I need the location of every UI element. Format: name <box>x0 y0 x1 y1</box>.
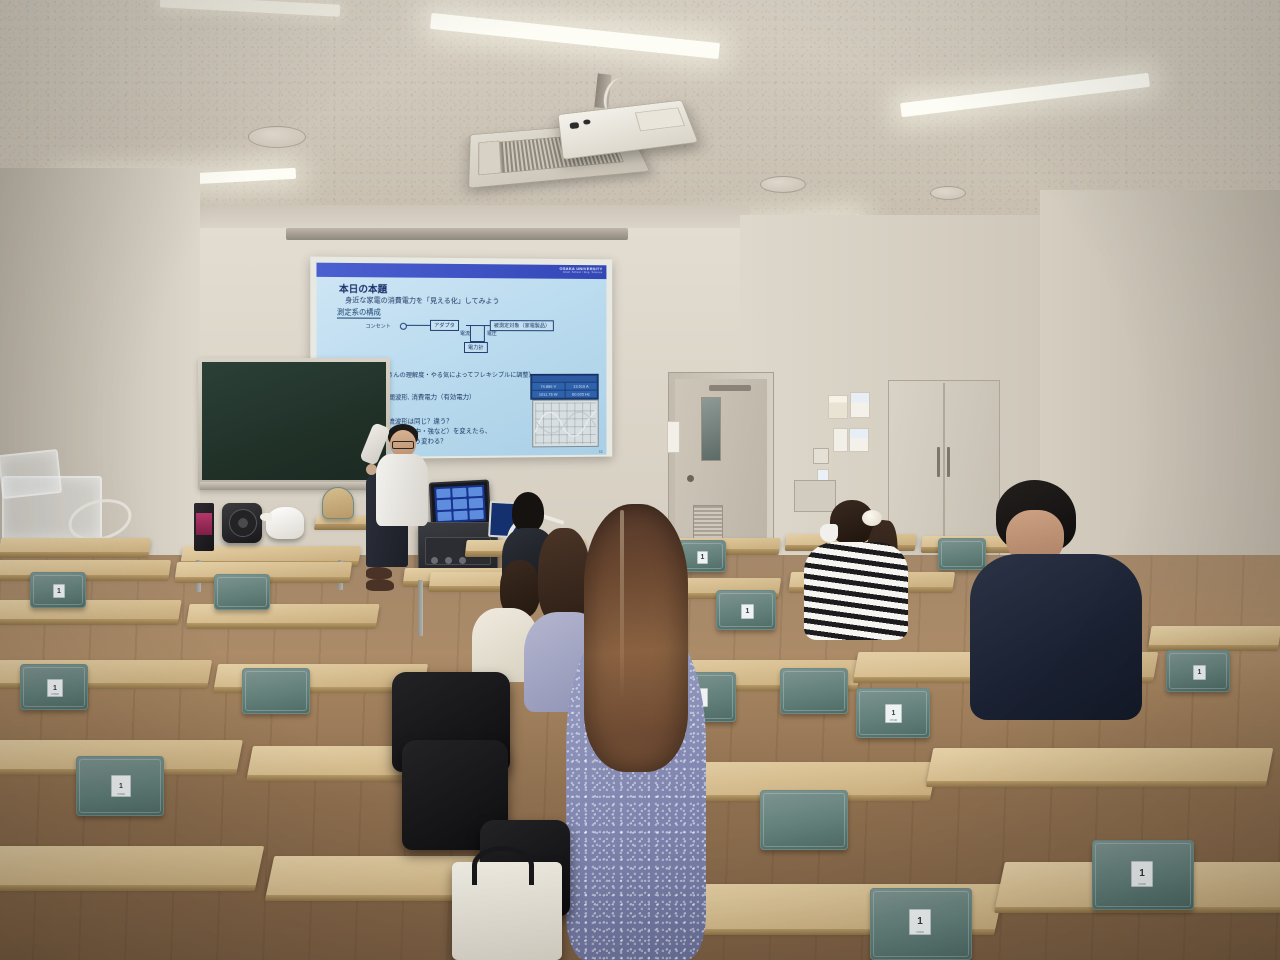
desk-row <box>1148 626 1280 646</box>
door-handle-icon[interactable] <box>687 475 694 482</box>
student-torso <box>804 542 908 640</box>
wall-poster-evacuation <box>828 395 848 419</box>
desk-row <box>0 600 182 620</box>
waveform-screenshot <box>532 399 598 447</box>
chair[interactable] <box>760 790 848 850</box>
slide-lead: 身近な家電の消費電力を「見える化」してみよう <box>345 295 499 306</box>
hair-scrunchie <box>862 510 882 526</box>
slide-page-number: 13 <box>599 450 603 454</box>
seat-number: 1 <box>53 584 65 598</box>
student <box>556 504 716 960</box>
screen-housing <box>286 228 628 240</box>
appliance-electric-fan <box>222 503 262 543</box>
seat-number: 1CHAIR <box>885 704 902 723</box>
meter-cell: 1011.76 W <box>532 391 564 398</box>
student <box>796 500 926 640</box>
diagram-meter: 電力計 <box>464 342 487 353</box>
desk-row <box>0 846 264 886</box>
diagram-current-label: 電流 <box>460 330 470 337</box>
student-hair <box>584 504 688 772</box>
seat-number: 1CHAIR <box>1131 861 1153 887</box>
ceiling-speaker-icon <box>930 186 966 200</box>
wall-poster-timetable <box>833 428 848 452</box>
light-switch-panel[interactable] <box>813 448 829 464</box>
meter-cell: 74.886 V <box>532 383 564 390</box>
chair[interactable]: 1CHAIR <box>856 688 930 738</box>
glasses-icon <box>392 441 414 449</box>
classroom-photo: OSAKA UNIVERSITY Grad. School / Eng. Sci… <box>0 0 1280 960</box>
chair[interactable]: 1CHAIR <box>870 888 972 960</box>
meter-cell: 13.516 A <box>565 383 597 390</box>
seat-number: 1 <box>741 604 754 619</box>
meter-cell: 60.025 Hz <box>565 391 597 398</box>
chair[interactable]: 1 <box>1166 650 1230 692</box>
student-hair-highlight <box>620 510 624 700</box>
ceiling-speaker-icon <box>760 176 806 193</box>
seat-number: 1 <box>1193 665 1206 680</box>
seat-number: 1CHAIR <box>111 775 131 797</box>
face-mask-icon <box>820 524 838 542</box>
blackboard <box>198 358 390 490</box>
desk-row <box>927 748 1274 782</box>
seat-number: 1CHAIR <box>47 679 63 697</box>
wall-poster-info <box>849 428 869 452</box>
wall-poster-notice <box>850 392 870 418</box>
chair[interactable]: 1 <box>30 572 86 608</box>
diagram-target: 被測定対象（家電製品） <box>490 320 554 331</box>
door-closer <box>709 385 751 391</box>
appliance-kettle <box>266 507 304 539</box>
diagram-outlet-label: コンセント <box>365 323 390 330</box>
chair[interactable] <box>242 668 310 714</box>
door-poster <box>667 421 680 453</box>
seat-number: 1CHAIR <box>909 909 931 935</box>
chair[interactable]: 1 <box>716 590 776 630</box>
chair[interactable] <box>214 574 270 610</box>
instructor-chair[interactable] <box>322 487 354 519</box>
door-window <box>701 397 721 461</box>
presenter-shoe <box>366 567 392 579</box>
bag-strap <box>472 846 534 885</box>
chair[interactable]: 1CHAIR <box>1092 840 1194 910</box>
ceiling-speaker-icon <box>248 126 306 148</box>
diagram-adapter: アダプタ <box>430 320 459 331</box>
university-logo: OSAKA UNIVERSITY Grad. School / Eng. Sci… <box>560 266 603 275</box>
appliance-product-box <box>194 503 214 551</box>
chair[interactable] <box>780 668 848 714</box>
presenter-shoe <box>366 579 394 591</box>
chair[interactable]: 1CHAIR <box>20 664 88 710</box>
slide-title: 本日の本題 <box>339 281 387 295</box>
chalk-tray <box>200 482 388 490</box>
meter-readout-screenshot: 74.886 V 13.516 A 1011.76 W 60.025 Hz <box>530 374 598 400</box>
chair[interactable]: 1CHAIR <box>76 756 164 816</box>
student-torso <box>970 554 1142 720</box>
presenter-torso <box>376 454 428 526</box>
student-hair <box>512 492 544 532</box>
diagram-voltage-label: 電圧 <box>487 330 497 337</box>
measurement-diagram: コンセント アダプタ 被測定対象（家電製品） 電流 電圧 電力計 <box>365 318 564 356</box>
left-front-desk <box>0 538 151 553</box>
slide-header-bar: OSAKA UNIVERSITY Grad. School / Eng. Sci… <box>316 263 606 279</box>
student <box>962 480 1152 720</box>
storage-bin <box>0 449 62 499</box>
